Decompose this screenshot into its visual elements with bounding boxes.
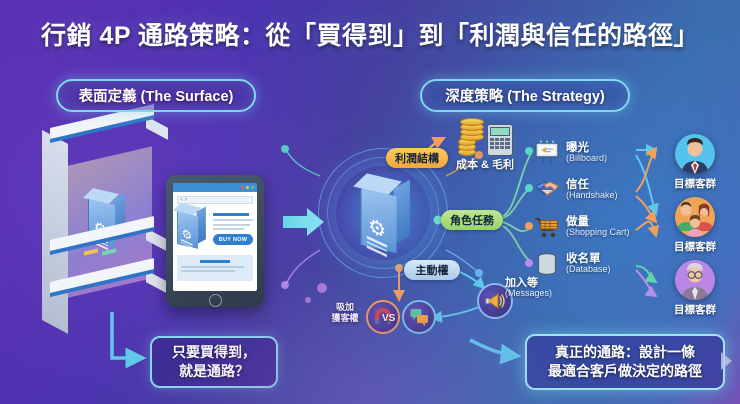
messages-label-group: 加入等 (Messages): [505, 277, 575, 299]
callout-arrow-tip: [721, 352, 732, 370]
retail-shelf-icon: ⚙: [42, 122, 174, 322]
callout-strategy-answer: 真正的通路：設計一條最適合客戶做決定的路徑: [525, 334, 725, 390]
infographic-canvas: 行銷 4P 通路策略：從「買得到」到「利潤與信任的路徑」 表面定義 (The S…: [0, 0, 740, 404]
database-icon: [534, 251, 560, 277]
tablet-device: < > ⚙ BUY NOW: [166, 175, 264, 307]
chat-bubbles-icon: [402, 300, 436, 334]
tablet-screen: < > ⚙ BUY NOW: [173, 183, 257, 291]
browser-window-icon: [173, 183, 257, 192]
handshake-icon: [534, 177, 560, 203]
list-item[interactable]: 目標客群: [659, 260, 731, 317]
list-item[interactable]: 信任 (Handshake): [534, 171, 644, 208]
list-item-label-zh: 信任: [566, 179, 618, 191]
audience-label: 目標客群: [659, 176, 731, 191]
list-item[interactable]: 目標客群: [659, 134, 731, 191]
list-item-label-en: (Shopping Cart): [566, 228, 630, 238]
audience-label: 目標客群: [659, 239, 731, 254]
businessman-avatar: [675, 134, 715, 174]
label-pill-profit: 利潤結構: [386, 148, 448, 168]
channel-function-list: 曝光 (Billboard) 信任 (Handshake): [534, 134, 644, 282]
list-item-label-en: (Database): [566, 265, 611, 275]
elderly-avatar: [675, 260, 715, 300]
list-item-label-en: (Billboard): [566, 154, 607, 164]
list-item[interactable]: 目標客群: [659, 197, 731, 254]
calculator-icon: [487, 124, 513, 156]
buy-now-button[interactable]: BUY NOW: [213, 234, 253, 245]
billboard-icon: [534, 140, 560, 166]
section-pill-strategy: 深度策略 (The Strategy): [420, 79, 630, 112]
messages-label-en: (Messages): [505, 289, 575, 299]
cost-margin-label: 成本 & 毛利: [444, 156, 526, 172]
section-pill-surface: 表面定義 (The Surface): [56, 79, 256, 112]
label-pill-initiative: 主動權: [404, 260, 460, 280]
acquisition-label: 吸加獲客權: [326, 302, 364, 325]
vs-separator: VS: [382, 313, 395, 324]
callout-strategy-text: 真正的通路：設計一條最適合客戶做決定的路徑: [548, 343, 702, 381]
list-item-label-zh: 做量: [566, 216, 630, 228]
list-item[interactable]: 曝光 (Billboard): [534, 134, 644, 171]
list-item-label-en: (Handshake): [566, 191, 618, 201]
list-item-label-zh: 收名單: [566, 253, 611, 265]
list-item[interactable]: 做量 (Shopping Cart): [534, 208, 644, 245]
address-bar[interactable]: < >: [177, 196, 253, 204]
cost-margin-group: 成本 & 毛利: [444, 114, 526, 176]
callout-surface-question: 只要買得到，就是通路？: [150, 336, 278, 388]
target-audience-list: 目標客群 目標客群: [659, 134, 731, 323]
shopping-cart-icon: [534, 214, 560, 240]
product-thumbnail: ⚙: [177, 209, 208, 251]
home-button[interactable]: [209, 294, 222, 307]
audience-label: 目標客群: [659, 302, 731, 317]
list-item-label-zh: 曝光: [566, 142, 607, 154]
family-avatar: [675, 197, 715, 237]
page-title: 行銷 4P 通路策略：從「買得到」到「利潤與信任的路徑」: [0, 16, 740, 52]
coins-icon: [458, 118, 484, 156]
label-pill-role: 角色任務: [441, 210, 503, 230]
